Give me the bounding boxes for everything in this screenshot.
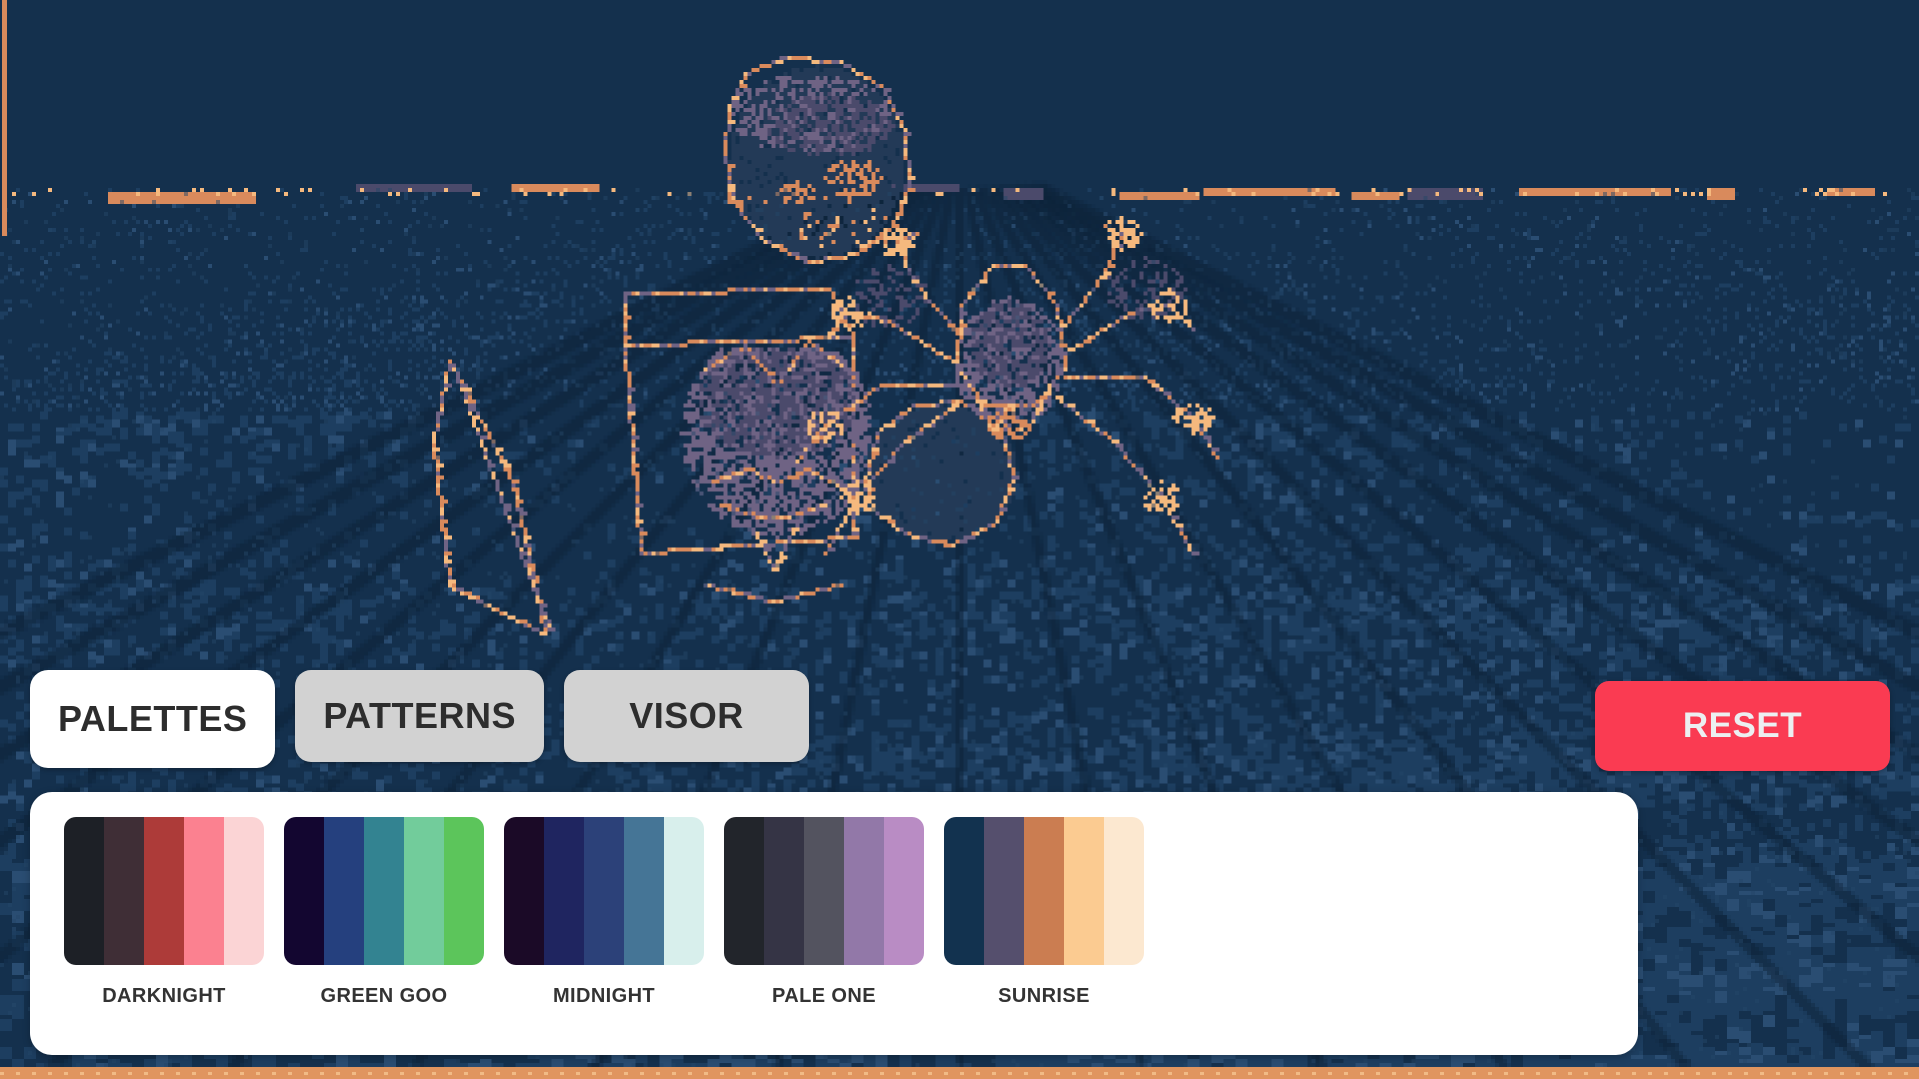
tab-patterns[interactable]: PATTERNS: [295, 670, 544, 762]
reset-button-label: RESET: [1683, 706, 1802, 745]
swatch-color: [624, 817, 664, 965]
swatch-color: [444, 817, 484, 965]
palette-label: DARKNIGHT: [102, 985, 226, 1008]
swatch-color: [284, 817, 324, 965]
palette-item[interactable]: PALE ONE: [714, 817, 934, 1008]
palette-item[interactable]: SUNRISE: [934, 817, 1154, 1008]
tab-palettes-label: PALETTES: [58, 698, 247, 740]
swatch-color: [544, 817, 584, 965]
reset-button[interactable]: RESET: [1595, 681, 1890, 771]
palette-label: SUNRISE: [998, 985, 1090, 1008]
swatch-color: [504, 817, 544, 965]
tab-visor[interactable]: VISOR: [564, 670, 809, 762]
swatch-color: [324, 817, 364, 965]
swatch-color: [224, 817, 264, 965]
tab-palettes[interactable]: PALETTES: [30, 670, 275, 768]
swatch-color: [844, 817, 884, 965]
palette-item[interactable]: GREEN GOO: [274, 817, 494, 1008]
palette-swatch[interactable]: [504, 817, 704, 965]
swatch-color: [1064, 817, 1104, 965]
tab-patterns-label: PATTERNS: [323, 695, 516, 737]
swatch-color: [64, 817, 104, 965]
swatch-color: [184, 817, 224, 965]
palette-swatch[interactable]: [64, 817, 264, 965]
swatch-color: [884, 817, 924, 965]
palette-swatch[interactable]: [724, 817, 924, 965]
swatch-color: [584, 817, 624, 965]
swatch-color: [1024, 817, 1064, 965]
palette-item[interactable]: MIDNIGHT: [494, 817, 714, 1008]
swatch-color: [804, 817, 844, 965]
tab-visor-label: VISOR: [629, 695, 744, 737]
swatch-color: [104, 817, 144, 965]
app-root: PALETTES PATTERNS VISOR RESET DARKNIGHTG…: [0, 0, 1919, 1079]
swatch-color: [404, 817, 444, 965]
swatch-color: [1104, 817, 1144, 965]
swatch-color: [984, 817, 1024, 965]
palette-swatch[interactable]: [944, 817, 1144, 965]
swatch-color: [724, 817, 764, 965]
left-accent-line: [2, 0, 7, 236]
swatch-color: [944, 817, 984, 965]
bottom-accent-strip: [0, 1067, 1919, 1079]
palette-swatch[interactable]: [284, 817, 484, 965]
tab-bar: PALETTES PATTERNS VISOR: [30, 670, 809, 768]
swatch-color: [144, 817, 184, 965]
palette-label: PALE ONE: [772, 985, 876, 1008]
swatch-color: [664, 817, 704, 965]
palette-label: GREEN GOO: [321, 985, 448, 1008]
palette-panel: DARKNIGHTGREEN GOOMIDNIGHTPALE ONESUNRIS…: [30, 792, 1638, 1055]
swatch-color: [764, 817, 804, 965]
swatch-color: [364, 817, 404, 965]
palette-item[interactable]: DARKNIGHT: [54, 817, 274, 1008]
palette-label: MIDNIGHT: [553, 985, 655, 1008]
